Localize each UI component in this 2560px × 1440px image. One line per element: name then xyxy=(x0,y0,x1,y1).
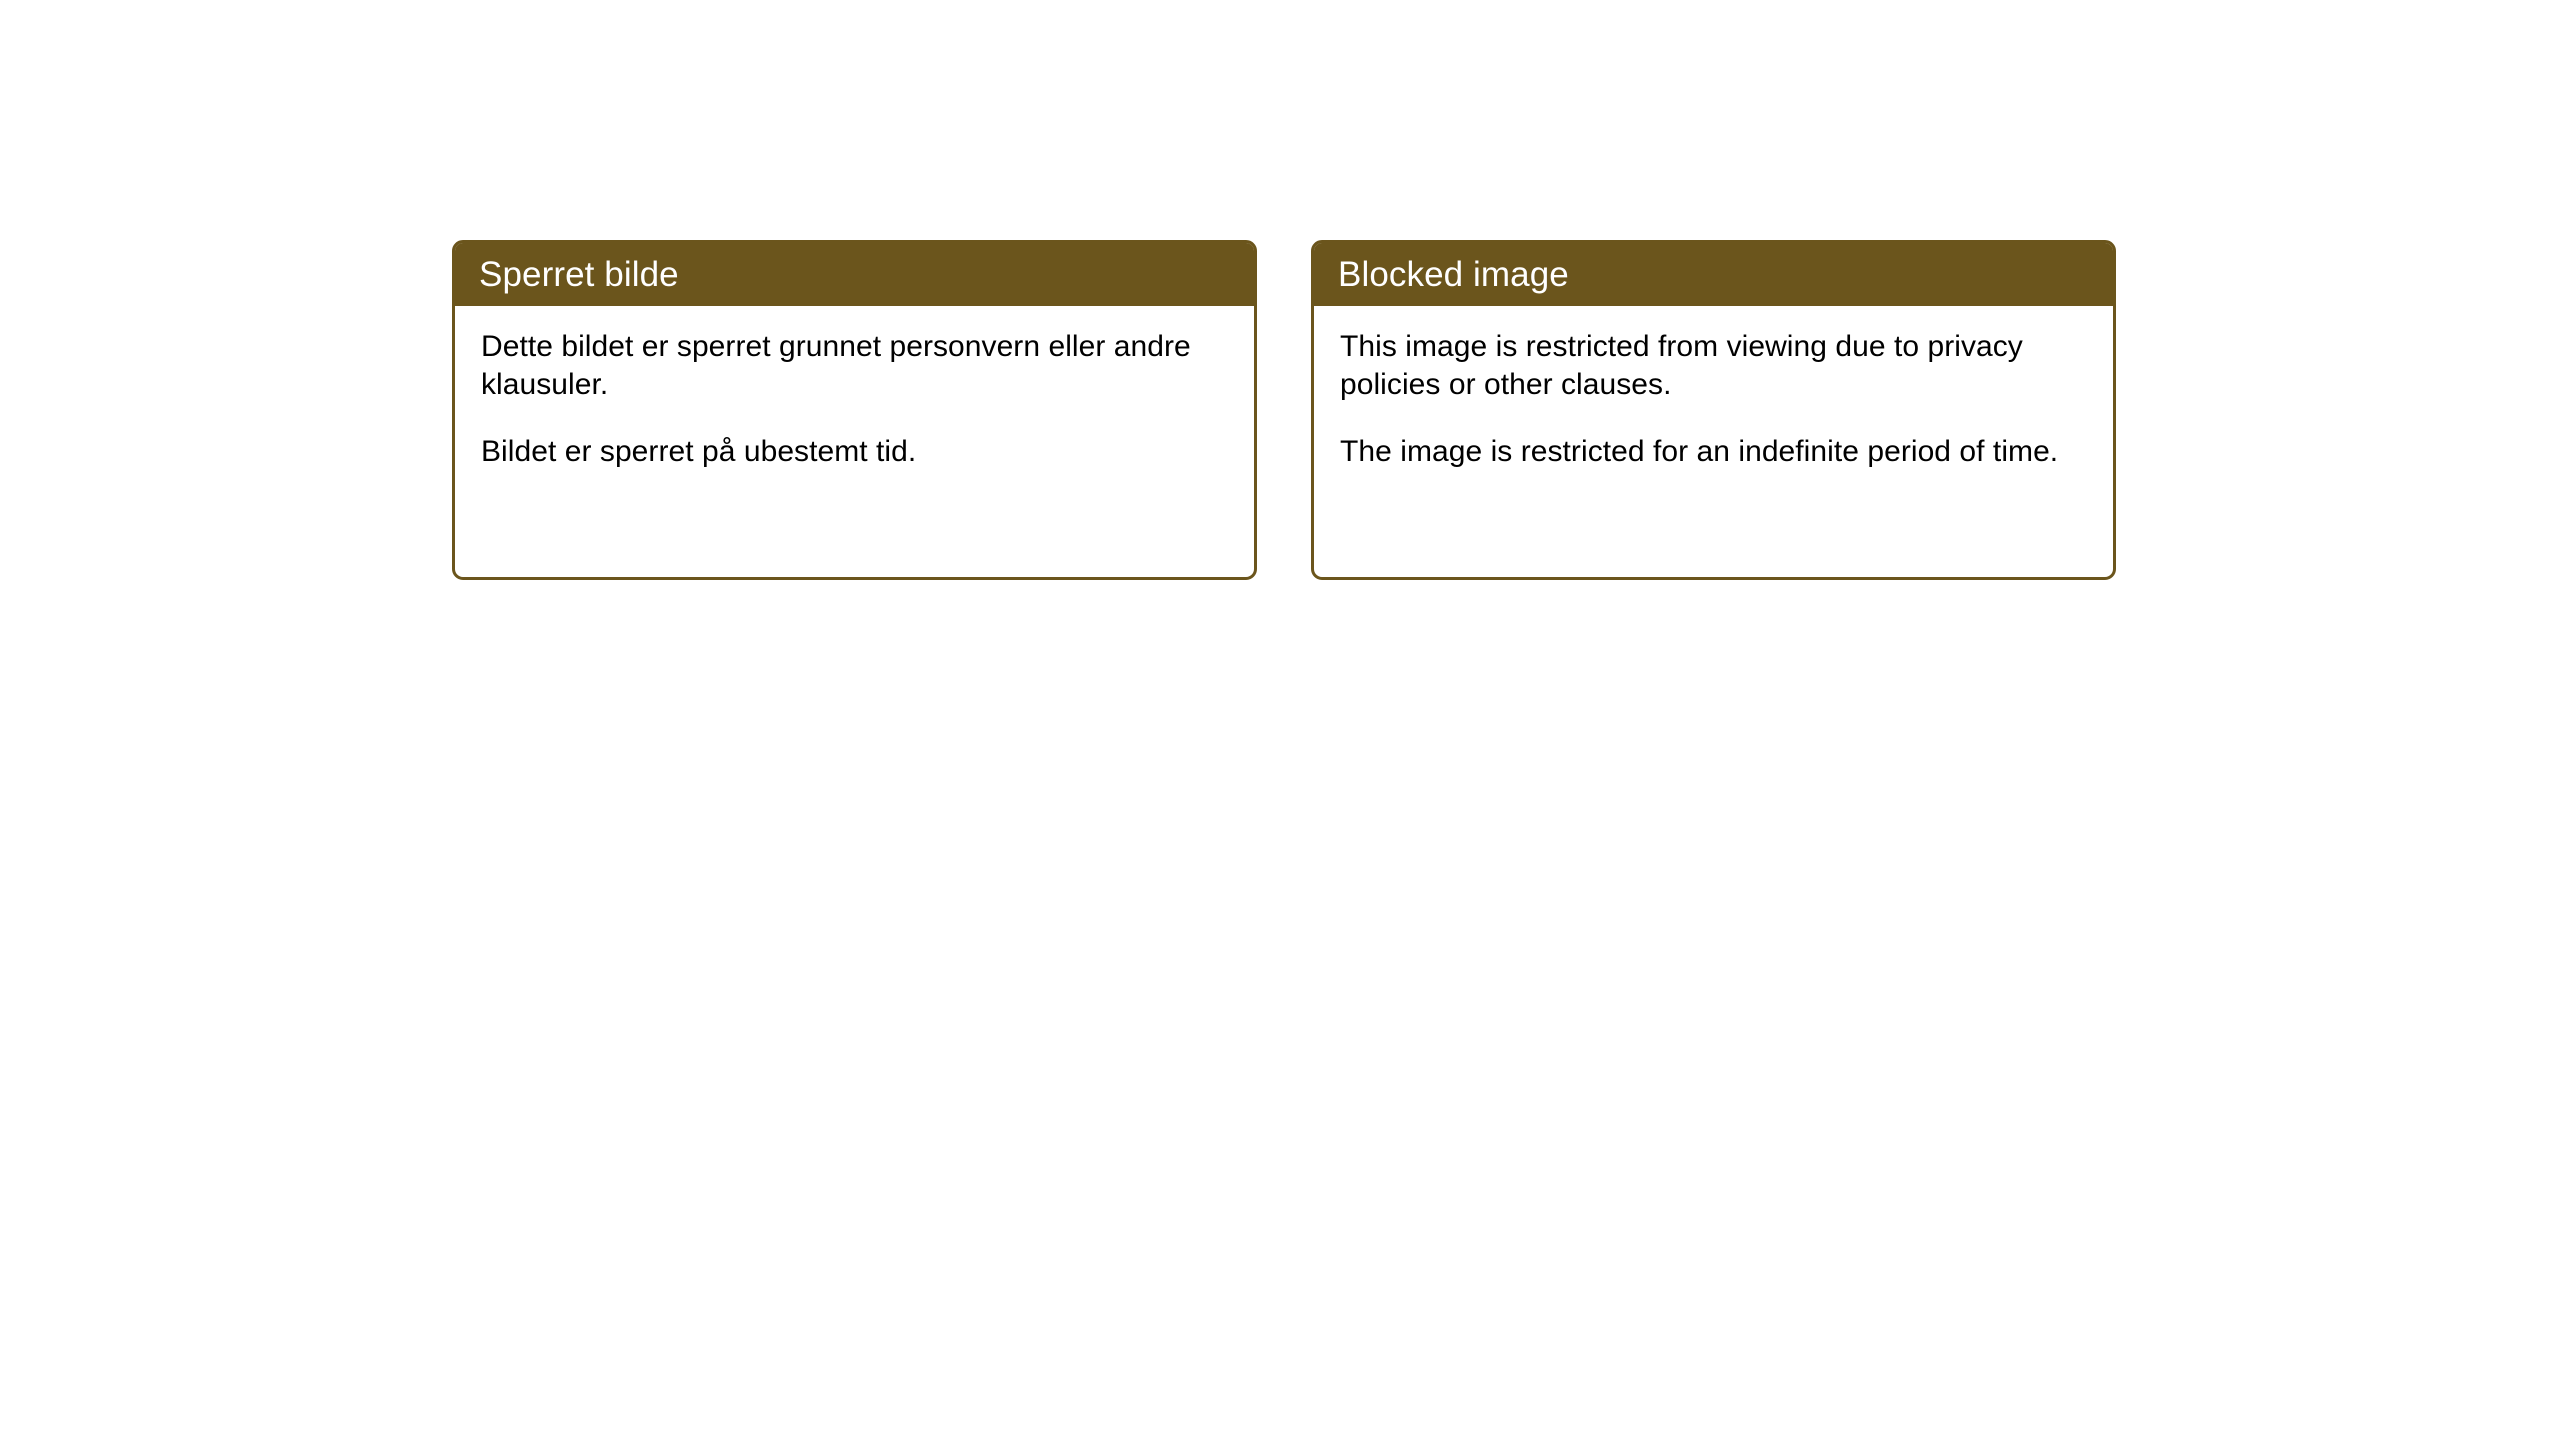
page-canvas: Sperret bilde Dette bildet er sperret gr… xyxy=(0,0,2560,1440)
card-body-english: This image is restricted from viewing du… xyxy=(1314,306,2113,471)
card-header-norwegian: Sperret bilde xyxy=(455,243,1254,306)
notice-paragraph-secondary-norwegian: Bildet er sperret på ubestemt tid. xyxy=(481,433,1230,471)
card-header-english: Blocked image xyxy=(1314,243,2113,306)
blocked-image-notice-norwegian: Sperret bilde Dette bildet er sperret gr… xyxy=(452,240,1257,580)
notice-paragraph-primary-english: This image is restricted from viewing du… xyxy=(1340,328,2089,405)
card-title-english: Blocked image xyxy=(1338,257,1569,292)
paragraph-spacer xyxy=(1340,405,2089,433)
notice-paragraph-primary-norwegian: Dette bildet er sperret grunnet personve… xyxy=(481,328,1230,405)
paragraph-spacer xyxy=(481,405,1230,433)
blocked-image-notice-english: Blocked image This image is restricted f… xyxy=(1311,240,2116,580)
card-body-norwegian: Dette bildet er sperret grunnet personve… xyxy=(455,306,1254,471)
card-title-norwegian: Sperret bilde xyxy=(479,257,679,292)
notice-paragraph-secondary-english: The image is restricted for an indefinit… xyxy=(1340,433,2089,471)
